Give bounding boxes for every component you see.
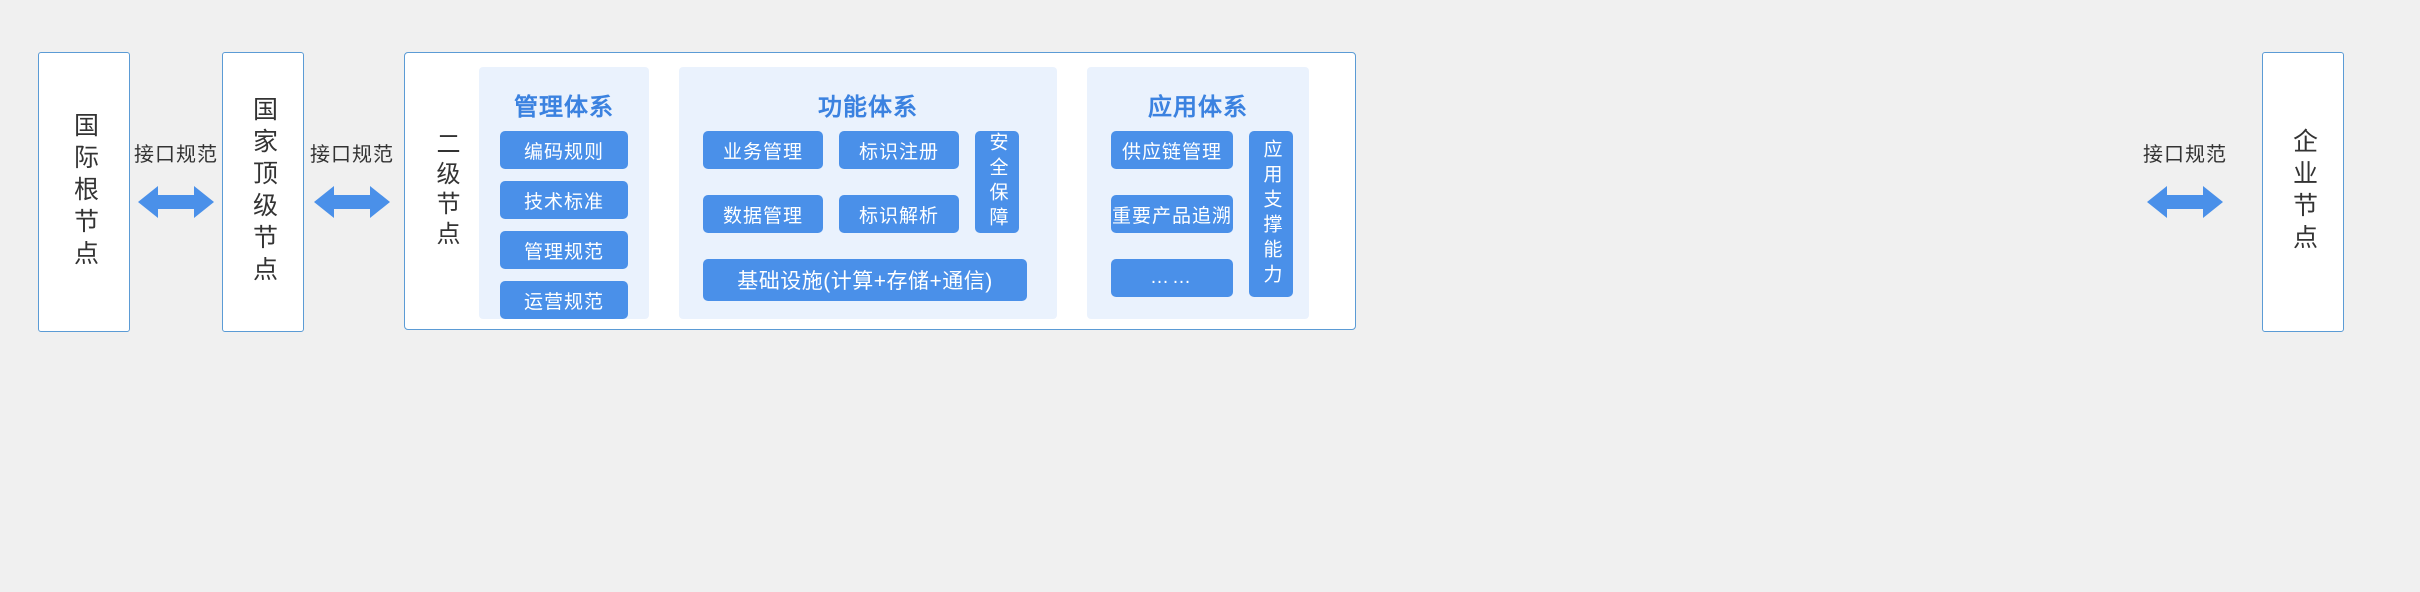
connector-3: 接口规范 <box>2135 138 2235 223</box>
diagram-canvas: 国际根节点 接口规范 国家顶级节点 接口规范 二级节点 管理体系 编码规则 技术… <box>0 0 2420 592</box>
panel-functional: 功能体系 业务管理 标识注册 数据管理 标识解析 安全保障 基础设施(计算+存储… <box>679 67 1057 319</box>
panel-functional-title: 功能体系 <box>679 87 1057 122</box>
double-arrow-icon <box>136 181 216 223</box>
node-secondary-label-wrap: 二级节点 <box>433 53 457 329</box>
chip-more-applications[interactable]: …… <box>1111 259 1233 297</box>
panel-application: 应用体系 供应链管理 重要产品追溯 …… 应用支撑能力 <box>1087 67 1309 319</box>
chip-operation-spec[interactable]: 运营规范 <box>500 281 628 319</box>
connector-2-label: 接口规范 <box>310 138 394 167</box>
chip-coding-rules[interactable]: 编码规则 <box>500 131 628 169</box>
chip-management-spec[interactable]: 管理规范 <box>500 231 628 269</box>
panel-management-title: 管理体系 <box>479 87 649 122</box>
chip-identifier-registration[interactable]: 标识注册 <box>839 131 959 169</box>
chip-technical-standard[interactable]: 技术标准 <box>500 181 628 219</box>
connector-1: 接口规范 <box>128 138 224 223</box>
chip-data-management[interactable]: 数据管理 <box>703 195 823 233</box>
chip-infrastructure[interactable]: 基础设施(计算+存储+通信) <box>703 259 1027 301</box>
chip-identifier-resolution[interactable]: 标识解析 <box>839 195 959 233</box>
double-arrow-icon <box>312 181 392 223</box>
chip-application-support-capability[interactable]: 应用支撑能力 <box>1249 131 1293 297</box>
panel-application-title: 应用体系 <box>1087 87 1309 122</box>
connector-1-label: 接口规范 <box>134 138 218 167</box>
chip-product-traceability[interactable]: 重要产品追溯 <box>1111 195 1233 233</box>
double-arrow-icon <box>2145 181 2225 223</box>
node-secondary-label: 二级节点 <box>433 131 457 251</box>
connector-3-label: 接口规范 <box>2143 138 2227 167</box>
connector-2: 接口规范 <box>302 138 402 223</box>
node-national-top-label: 国家顶级节点 <box>251 96 276 288</box>
chip-business-management[interactable]: 业务管理 <box>703 131 823 169</box>
node-international-root-label: 国际根节点 <box>72 112 97 272</box>
node-enterprise-label: 企业节点 <box>2291 128 2316 256</box>
node-international-root[interactable]: 国际根节点 <box>38 52 130 332</box>
panel-management: 管理体系 编码规则 技术标准 管理规范 运营规范 <box>479 67 649 319</box>
node-enterprise[interactable]: 企业节点 <box>2262 52 2344 332</box>
node-secondary-container[interactable]: 二级节点 管理体系 编码规则 技术标准 管理规范 运营规范 功能体系 业务管理 … <box>404 52 1356 330</box>
node-national-top[interactable]: 国家顶级节点 <box>222 52 304 332</box>
chip-security-assurance[interactable]: 安全保障 <box>975 131 1019 233</box>
chip-supply-chain-management[interactable]: 供应链管理 <box>1111 131 1233 169</box>
